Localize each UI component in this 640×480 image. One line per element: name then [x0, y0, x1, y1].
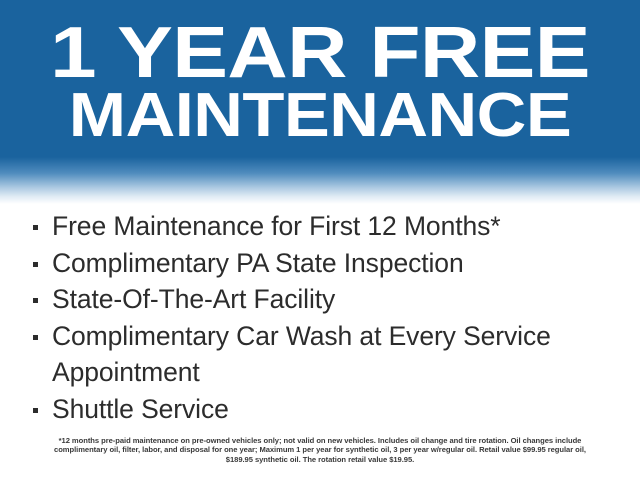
promotional-offer-card: 1 YEAR FREE MAINTENANCE Free Maintenance…	[0, 0, 640, 480]
list-item: Complimentary PA State Inspection	[33, 245, 612, 282]
benefits-list: Free Maintenance for First 12 Months* Co…	[0, 208, 640, 427]
header-banner: 1 YEAR FREE MAINTENANCE	[0, 0, 640, 204]
square-bullet-icon	[33, 408, 38, 413]
list-item-label: State-Of-The-Art Facility	[52, 284, 335, 314]
disclaimer-fine-print: *12 months pre-paid maintenance on pre-o…	[40, 436, 600, 464]
list-item-label: Shuttle Service	[52, 394, 229, 424]
list-item: Shuttle Service	[33, 391, 612, 428]
list-item: Complimentary Car Wash at Every Service …	[33, 318, 612, 391]
square-bullet-icon	[33, 335, 38, 340]
list-item: Free Maintenance for First 12 Months*	[33, 208, 612, 245]
square-bullet-icon	[33, 262, 38, 267]
square-bullet-icon	[33, 298, 38, 303]
square-bullet-icon	[33, 225, 38, 230]
list-item-label: Complimentary Car Wash at Every Service …	[52, 321, 551, 388]
list-item-label: Complimentary PA State Inspection	[52, 248, 464, 278]
list-item: State-Of-The-Art Facility	[33, 281, 612, 318]
headline-primary: 1 YEAR FREE	[0, 17, 640, 89]
list-item-label: Free Maintenance for First 12 Months*	[52, 211, 500, 241]
headline-secondary: MAINTENANCE	[0, 85, 640, 147]
banner-gradient-fade	[0, 148, 640, 204]
